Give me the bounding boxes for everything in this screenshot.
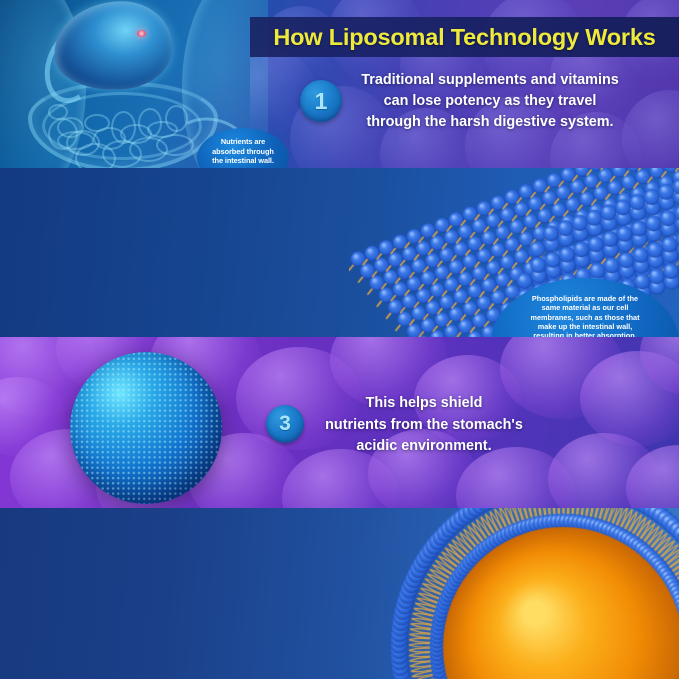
caption-2-line-2: same material as our cell	[505, 303, 665, 312]
caption-2-line-4: make up the intestinal wall,	[505, 322, 665, 331]
panel-step-1: How Liposomal Technology Works 1 Traditi…	[0, 0, 679, 168]
liposome-surface-texture	[70, 352, 222, 504]
step-number-1: 1	[315, 88, 328, 115]
caption-2-line-3: membranes, such as those that	[505, 313, 665, 322]
caption-1-line-3: the intestinal wall.	[197, 156, 289, 166]
caption-2-line-1: Phospholipids are made of the	[505, 294, 665, 303]
step-text-1-line-3: through the harsh digestive system.	[330, 112, 650, 133]
liposome-sphere	[70, 352, 222, 504]
liposome-cross-section-illustration	[339, 508, 679, 679]
step-text-1: Traditional supplements and vitamins can…	[330, 70, 650, 133]
caption-1-line-1: Nutrients are	[197, 137, 289, 147]
step-badge-3: 3	[266, 405, 304, 443]
panel-step-2: 2 However, our vitamins and supplements …	[0, 168, 679, 337]
step-text-1-line-1: Traditional supplements and vitamins	[330, 70, 650, 91]
step-text-3-line-2: nutrients from the stomach's	[310, 415, 538, 437]
step-text-1-line-2: can lose potency as they travel	[330, 91, 650, 112]
nutrient-marker-icon	[137, 30, 146, 37]
title-bar: How Liposomal Technology Works	[250, 17, 679, 57]
small-intestine-coils	[48, 104, 190, 164]
page-title: How Liposomal Technology Works	[273, 24, 655, 51]
step-text-3-line-1: This helps shield	[310, 393, 538, 415]
liposomal-technology-infographic: How Liposomal Technology Works 1 Traditi…	[0, 0, 679, 679]
step-text-3: This helps shield nutrients from the sto…	[310, 393, 538, 458]
intestine-loop	[57, 131, 94, 150]
panel-step-4: 4 Now, more nutrient can reach its desti…	[0, 508, 679, 679]
step-number-3: 3	[279, 412, 291, 436]
liposome-canvas	[339, 508, 679, 679]
step-text-3-line-3: acidic environment.	[310, 436, 538, 458]
caption-1-line-2: absorbed through	[197, 147, 289, 157]
